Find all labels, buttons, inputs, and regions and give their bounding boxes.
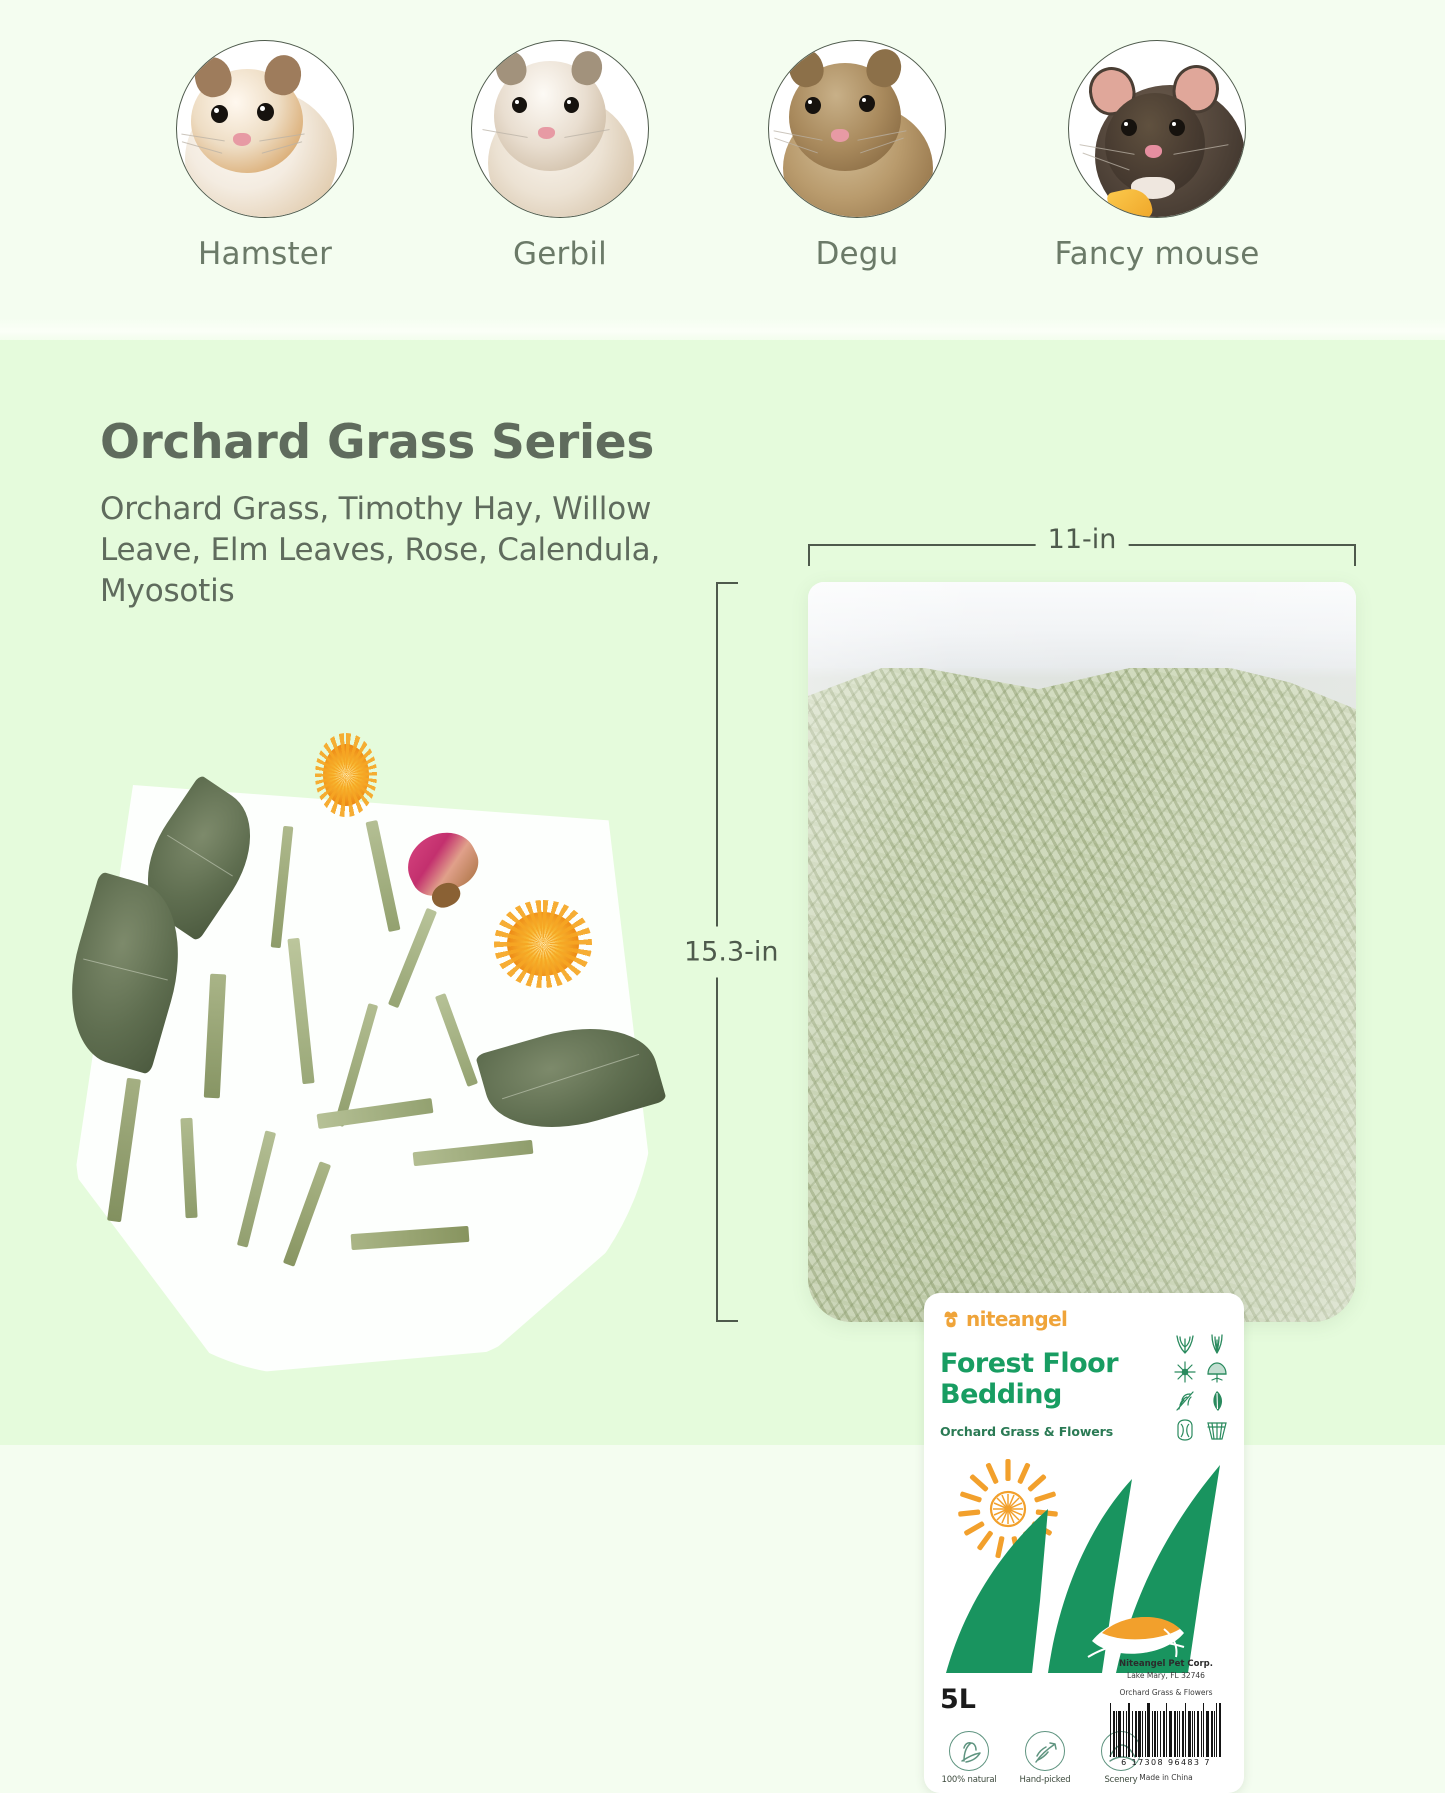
page-title: Orchard Grass Series — [100, 418, 740, 467]
animal-item-hamster: Hamster — [150, 40, 380, 272]
product-subtitle: Orchard Grass & Flowers — [940, 1424, 1113, 1439]
bag-seal — [808, 582, 1356, 668]
fancy-mouse-photo — [1068, 40, 1246, 218]
animal-label: Degu — [742, 236, 972, 272]
grass-tuft-icon — [1204, 1331, 1230, 1355]
brand-lockup: niteangel — [940, 1307, 1067, 1331]
animal-list: Hamster Gerbil — [0, 0, 1445, 320]
animal-label: Fancy mouse — [1042, 236, 1272, 272]
animal-item-fancy-mouse: Fancy mouse — [1042, 40, 1272, 272]
dimension-height-label: 15.3-in — [684, 927, 778, 978]
package-figure: 11-in 15.3-in niteangel Forest Fl — [690, 520, 1390, 1420]
legal-block: Niteangel Pet Corp. Lake Mary, FL 32746 … — [1098, 1658, 1234, 1783]
ingredient-icon-grid — [1170, 1329, 1232, 1443]
gerbil-photo — [471, 40, 649, 218]
barcode-digits: 6 17308 96483 7 — [1098, 1758, 1234, 1767]
willow-branch-icon — [1172, 1389, 1198, 1413]
hay-contents — [808, 656, 1356, 1322]
barcode — [1098, 1703, 1234, 1757]
animal-label: Hamster — [150, 236, 380, 272]
origin-label: Made in China — [1098, 1772, 1234, 1783]
calendula-icon — [1204, 1360, 1230, 1384]
degu-photo — [768, 40, 946, 218]
product-name: Forest Floor Bedding — [940, 1349, 1180, 1411]
series-description: Orchard Grass, Timothy Hay, Willow Leave… — [100, 489, 740, 612]
volume-label: 5L — [940, 1684, 976, 1715]
badge-hand-picked: Hand-picked — [1014, 1731, 1076, 1785]
animal-item-gerbil: Gerbil — [445, 40, 675, 272]
sprout-icon — [949, 1731, 989, 1771]
company-name: Niteangel Pet Corp. — [1098, 1658, 1234, 1670]
aster-flower-icon — [1172, 1360, 1198, 1384]
hand-pick-icon — [1025, 1731, 1065, 1771]
brand-name: niteangel — [966, 1307, 1067, 1331]
leaf-icon — [1204, 1389, 1230, 1413]
pet-types-panel: Hamster Gerbil — [0, 0, 1445, 340]
company-address: Lake Mary, FL 32746 — [1098, 1670, 1234, 1681]
flower-basket-icon — [1204, 1418, 1230, 1442]
rosebud-icon — [1172, 1418, 1198, 1442]
dimension-width: 11-in — [808, 520, 1356, 566]
animal-label: Gerbil — [445, 236, 675, 272]
dimension-height: 15.3-in — [690, 582, 742, 1322]
animal-item-degu: Degu — [742, 40, 972, 272]
product-bag — [808, 582, 1356, 1322]
botanical-scatter — [55, 730, 695, 1390]
grass-icon — [1172, 1331, 1198, 1355]
hamster-photo — [176, 40, 354, 218]
niteangel-logo-icon — [940, 1308, 962, 1330]
label-contents: Orchard Grass & Flowers — [1098, 1687, 1234, 1698]
badge-label: Hand-picked — [1014, 1775, 1076, 1785]
dimension-width-label: 11-in — [1036, 524, 1129, 555]
calendula-flower — [323, 744, 369, 806]
badge-100-natural: 100% natural — [938, 1731, 1000, 1785]
product-label: niteangel Forest Floor Bedding Orchard G… — [924, 1293, 1244, 1793]
badge-label: 100% natural — [938, 1775, 1000, 1785]
calendula-flower — [507, 912, 579, 976]
grass-blades-illustration — [946, 1465, 1220, 1673]
series-heading-block: Orchard Grass Series Orchard Grass, Timo… — [100, 418, 740, 612]
hero-illustration — [936, 1451, 1232, 1683]
product-panel: Orchard Grass Series Orchard Grass, Timo… — [0, 340, 1445, 1445]
